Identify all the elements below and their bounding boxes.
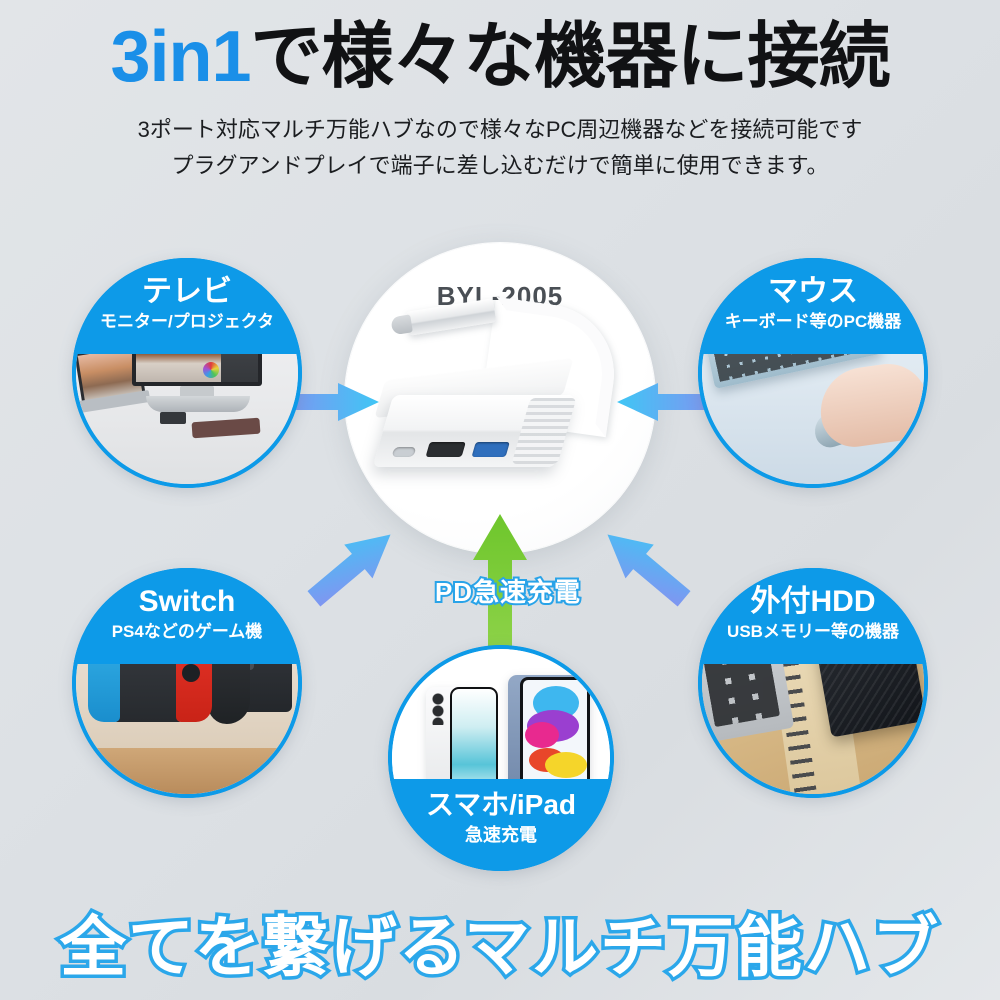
card-subtitle: モニター/プロジェクタ: [72, 310, 302, 334]
title-highlight: 3in1: [110, 17, 250, 97]
color-wheel-icon: [203, 362, 219, 378]
card-subtitle: キーボード等のPC機器: [698, 310, 928, 334]
footer-banner: 全てを繋げるマルチ万能ハブ: [0, 906, 1000, 988]
card-label: テレビ モニター/プロジェクタ: [72, 258, 302, 354]
hand-on-mouse-shape: [815, 359, 928, 451]
card-title: スマホ/iPad: [388, 779, 614, 823]
card-subtitle: 急速充電: [388, 823, 614, 847]
usb-c-plug-shape: [406, 298, 497, 335]
card-tv[interactable]: テレビ モニター/プロジェクタ: [72, 258, 302, 488]
footer-text: 全てを繋げるマルチ万能ハブ: [0, 906, 1000, 988]
subtitle-line-2: プラグアンドプレイで端子に差し込むだけで簡単に使用できます。: [0, 148, 1000, 184]
hub-ribs: [512, 398, 577, 464]
card-title: Switch: [72, 568, 302, 620]
card-bubble: Switch PS4などのゲーム機: [72, 568, 302, 798]
card-switch[interactable]: Switch PS4などのゲーム機: [72, 568, 302, 798]
card-label: 外付HDD USBメモリー等の機器: [698, 568, 928, 664]
subtitle: 3ポート対応マルチ万能ハブなので様々なPC周辺機器などを接続可能です プラグアン…: [0, 112, 1000, 184]
card-label: マウス キーボード等のPC機器: [698, 258, 928, 354]
card-hdd[interactable]: 外付HDD USBメモリー等の機器: [698, 568, 928, 798]
card-subtitle: PS4などのゲーム機: [72, 620, 302, 644]
card-phone-ipad[interactable]: スマホ/iPad 急速充電: [388, 645, 614, 871]
title-rest: で様々な機器に接続: [251, 17, 890, 97]
card-bubble: テレビ モニター/プロジェクタ: [72, 258, 302, 488]
desk-keyboard-shape: [192, 418, 261, 439]
wallpaper-blob-pink: [525, 722, 559, 748]
port-usb-a: [472, 442, 510, 457]
card-subtitle: USBメモリー等の機器: [698, 620, 928, 644]
card-label: スマホ/iPad 急速充電: [388, 779, 614, 871]
camera-lenses: [432, 693, 444, 725]
desk-hub-shape: [160, 412, 186, 424]
card-title: テレビ: [72, 258, 302, 310]
product-infographic-page: 3in1で様々な機器に接続 3ポート対応マルチ万能ハブなので様々なPC周辺機器な…: [0, 0, 1000, 1000]
card-bubble: マウス キーボード等のPC機器: [698, 258, 928, 488]
card-bubble: 外付HDD USBメモリー等の機器: [698, 568, 928, 798]
wallpaper-blob-yellow: [545, 752, 587, 778]
card-title: マウス: [698, 258, 928, 310]
port-hdmi: [426, 442, 466, 457]
port-usb-c: [392, 447, 417, 457]
card-mouse[interactable]: マウス キーボード等のPC機器: [698, 258, 928, 488]
center-product-circle: BYL-2005: [345, 243, 655, 553]
pd-charging-label: PD急速充電: [408, 572, 608, 609]
subtitle-line-1: 3ポート対応マルチ万能ハブなので様々なPC周辺機器などを接続可能です: [0, 112, 1000, 148]
card-bubble: スマホ/iPad 急速充電: [388, 645, 614, 871]
card-label: Switch PS4などのゲーム機: [72, 568, 302, 664]
page-title: 3in1で様々な機器に接続: [0, 14, 1000, 100]
plug-tip: [390, 314, 413, 335]
card-title: 外付HDD: [698, 568, 928, 620]
table-surface: [76, 748, 298, 794]
usb-hub-product-image: [345, 243, 655, 553]
arrow-switch-to-hub: [300, 518, 406, 619]
hub-body: [373, 395, 576, 467]
analog-stick-right: [182, 664, 200, 682]
header: 3in1で様々な機器に接続 3ポート対応マルチ万能ハブなので様々なPC周辺機器な…: [0, 14, 1000, 184]
monitor-base: [146, 396, 250, 412]
